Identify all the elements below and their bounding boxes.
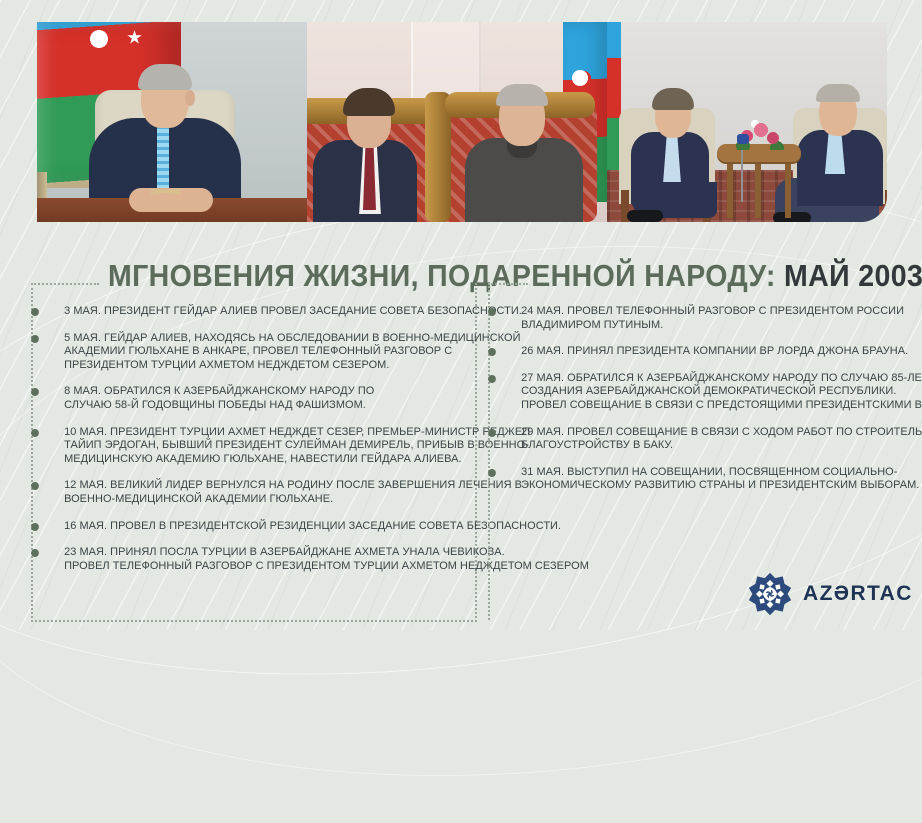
bullet-icon <box>31 335 39 343</box>
timeline-event: 8 МАЯ. ОБРАТИЛСЯ К АЗЕРБАЙДЖАНСКОМУ НАРО… <box>35 385 462 412</box>
bullet-icon <box>488 429 496 437</box>
timeline-event-line: 8 МАЯ. ОБРАТИЛСЯ К АЗЕРБАЙДЖАНСКОМУ НАРО… <box>64 385 462 399</box>
timeline-event-line: 12 МАЯ. ВЕЛИКИЙ ЛИДЕР ВЕРНУЛСЯ НА РОДИНУ… <box>64 479 462 493</box>
azertac-logo[interactable]: AZƏRTAC <box>748 568 898 620</box>
timeline-event-line: 10 МАЯ. ПРЕЗИДЕНТ ТУРЦИИ АХМЕТ НЕДЖДЕТ С… <box>64 426 462 440</box>
timeline-event-line: ПРЕЗИДЕНТОМ ТУРЦИИ АХМЕТОМ НЕДЖДЕТОМ СЕЗ… <box>64 359 462 373</box>
timeline-event: 29 МАЯ. ПРОВЕЛ СОВЕЩАНИЕ В СВЯЗИ С ХОДОМ… <box>492 426 897 453</box>
bullet-icon <box>488 348 496 356</box>
photo3-microphone-stand <box>741 144 743 202</box>
bullet-icon <box>31 549 39 557</box>
event-list-left: 3 МАЯ. ПРЕЗИДЕНТ ГЕЙДАР АЛИЕВ ПРОВЕЛ ЗАС… <box>33 283 475 573</box>
timeline-event-line: БЛАГОУСТРОЙСТВУ В БАКУ. <box>521 439 897 453</box>
timeline-event-line: 27 МАЯ. ОБРАТИЛСЯ К АЗЕРБАЙДЖАНСКОМУ НАР… <box>521 372 897 386</box>
bullet-icon <box>31 308 39 316</box>
flag-star-icon <box>127 30 142 45</box>
timeline-event-line: ПРОВЕЛ ТЕЛЕФОННЫЙ РАЗГОВОР С ПРЕЗИДЕНТОМ… <box>64 560 462 574</box>
timeline-event-line: 31 МАЯ. ВЫСТУПИЛ НА СОВЕЩАНИИ, ПОСВЯЩЕНН… <box>521 466 897 480</box>
timeline-event-line: МЕДИЦИНСКУЮ АКАДЕМИЮ ГЮЛЬХАНЕ, НАВЕСТИЛИ… <box>64 453 462 467</box>
timeline-event-line: ПРОВЕЛ СОВЕЩАНИЕ В СВЯЗИ С ПРЕДСТОЯЩИМИ … <box>521 399 897 413</box>
photo3-man-left-hair <box>652 88 694 110</box>
photo3-man-left-shoe <box>627 210 663 222</box>
timeline-event: 12 МАЯ. ВЕЛИКИЙ ЛИДЕР ВЕРНУЛСЯ НА РОДИНУ… <box>35 479 462 506</box>
timeline-event-line: СЛУЧАЮ 58-Й ГОДОВЩИНЫ ПОБЕДЫ НАД ФАШИЗМО… <box>64 399 462 413</box>
timeline-event: 23 МАЯ. ПРИНЯЛ ПОСЛА ТУРЦИИ В АЗЕРБАЙДЖА… <box>35 546 462 573</box>
timeline-event-line: 26 МАЯ. ПРИНЯЛ ПРЕЗИДЕНТА КОМПАНИИ ВР ЛО… <box>521 345 897 359</box>
timeline-event-line: ТАЙИП ЭРДОГАН, БЫВШИЙ ПРЕЗИДЕНТ СУЛЕЙМАН… <box>64 439 462 453</box>
timeline-event: 16 МАЯ. ПРОВЕЛ В ПРЕЗИДЕНТСКОЙ РЕЗИДЕНЦИ… <box>35 520 462 534</box>
timeline-event: 24 МАЯ. ПРОВЕЛ ТЕЛЕФОННЫЙ РАЗГОВОР С ПРЕ… <box>492 305 897 332</box>
timeline-event-line: 23 МАЯ. ПРИНЯЛ ПОСЛА ТУРЦИИ В АЗЕРБАЙДЖА… <box>64 546 462 560</box>
photo1-pens <box>151 172 181 212</box>
bullet-icon <box>488 469 496 477</box>
photo-strip <box>37 22 887 222</box>
timeline-event-line: 3 МАЯ. ПРЕЗИДЕНТ ГЕЙДАР АЛИЕВ ПРОВЕЛ ЗАС… <box>64 305 462 319</box>
photo3-flower-bouquet <box>735 116 785 150</box>
timeline-event-line: АКАДЕМИИ ГЮЛЬХАНЕ В АНКАРЕ, ПРОВЕЛ ТЕЛЕФ… <box>64 345 462 359</box>
timeline-event-line: СОЗДАНИЯ АЗЕРБАЙДЖАНСКОЙ ДЕМОКРАТИЧЕСКОЙ… <box>521 385 897 399</box>
event-list-right: 24 МАЯ. ПРОВЕЛ ТЕЛЕФОННЫЙ РАЗГОВОР С ПРЕ… <box>490 283 910 493</box>
bullet-icon <box>488 375 496 383</box>
azertac-wordmark: AZƏRTAC <box>803 582 913 606</box>
photo2-man-right-hair <box>496 84 548 106</box>
timeline-event-line: ЭКОНОМИЧЕСКОМУ РАЗВИТИЮ СТРАНЫ И ПРЕЗИДЕ… <box>521 479 897 493</box>
photo-heydar-aliyev-at-desk <box>37 22 307 222</box>
bullet-icon <box>31 523 39 531</box>
photo-aliyev-with-official-armchairs <box>307 22 607 222</box>
timeline-event: 27 МАЯ. ОБРАТИЛСЯ К АЗЕРБАЙДЖАНСКОМУ НАР… <box>492 372 897 413</box>
timeline-event-line: 16 МАЯ. ПРОВЕЛ В ПРЕЗИДЕНТСКОЙ РЕЗИДЕНЦИ… <box>64 520 462 534</box>
timeline-event: 31 МАЯ. ВЫСТУПИЛ НА СОВЕЩАНИИ, ПОСВЯЩЕНН… <box>492 466 897 493</box>
microphone-icon <box>737 134 749 144</box>
bullet-icon <box>488 308 496 316</box>
timeline-event: 3 МАЯ. ПРЕЗИДЕНТ ГЕЙДАР АЛИЕВ ПРОВЕЛ ЗАС… <box>35 305 462 319</box>
timeline-event-line: 29 МАЯ. ПРОВЕЛ СОВЕЩАНИЕ В СВЯЗИ С ХОДОМ… <box>521 426 897 440</box>
azertac-rosette-icon <box>748 572 792 616</box>
photo3-table-legs <box>723 160 795 218</box>
timeline-event-line: ВОЕННО-МЕДИЦИНСКОЙ АКАДЕМИИ ГЮЛЬХАНЕ. <box>64 493 462 507</box>
photo1-person-hair <box>138 64 192 90</box>
photo-aliyev-with-guest-at-table <box>607 22 887 222</box>
photo3-man-right-hair <box>816 84 860 102</box>
timeline-column-left: 3 МАЯ. ПРЕЗИДЕНТ ГЕЙДАР АЛИЕВ ПРОВЕЛ ЗАС… <box>31 283 477 622</box>
photo1-person-ear <box>185 90 195 106</box>
timeline-event-line: ВЛАДИМИРОМ ПУТИНЫМ. <box>521 319 897 333</box>
bullet-icon <box>31 482 39 490</box>
timeline-event-line: 24 МАЯ. ПРОВЕЛ ТЕЛЕФОННЫЙ РАЗГОВОР С ПРЕ… <box>521 305 897 319</box>
timeline-event: 10 МАЯ. ПРЕЗИДЕНТ ТУРЦИИ АХМЕТ НЕДЖДЕТ С… <box>35 426 462 467</box>
timeline-event: 5 МАЯ. ГЕЙДАР АЛИЕВ, НАХОДЯСЬ НА ОБСЛЕДО… <box>35 332 462 373</box>
timeline-event: 26 МАЯ. ПРИНЯЛ ПРЕЗИДЕНТА КОМПАНИИ ВР ЛО… <box>492 345 897 359</box>
bullet-icon <box>31 429 39 437</box>
bullet-icon <box>31 388 39 396</box>
timeline-event-line: 5 МАЯ. ГЕЙДАР АЛИЕВ, НАХОДЯСЬ НА ОБСЛЕДО… <box>64 332 462 346</box>
